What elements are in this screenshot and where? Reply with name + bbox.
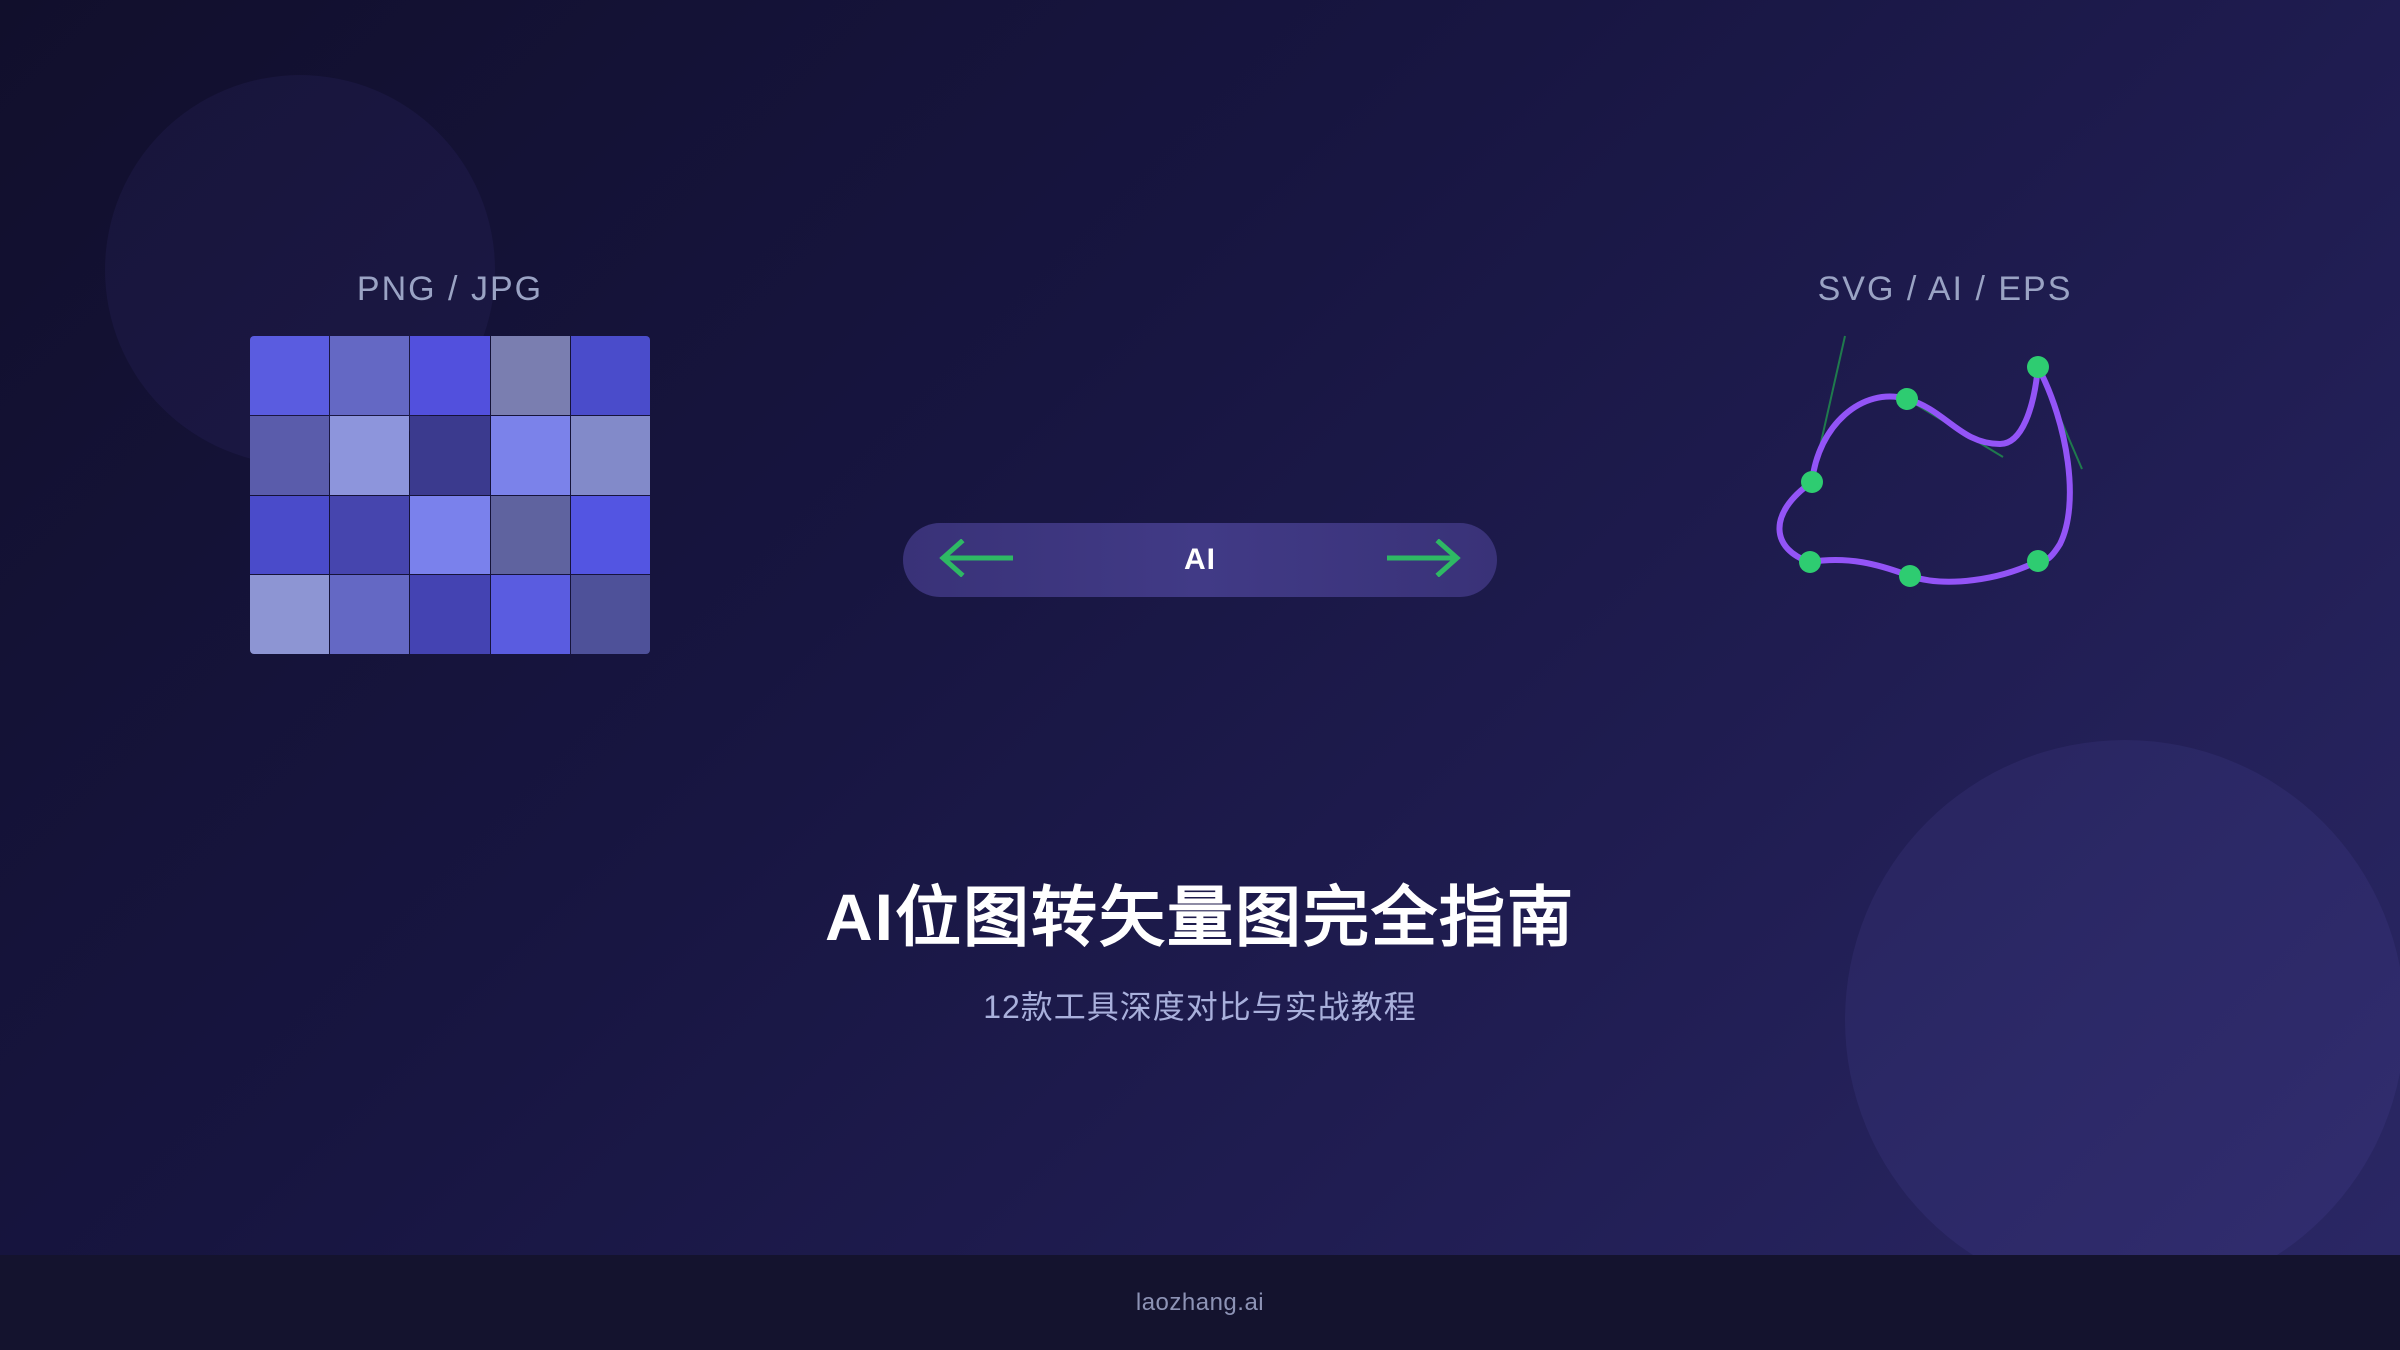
vector-format-label: SVG / AI / EPS (1750, 270, 2140, 309)
raster-format-panel: PNG / JPG (250, 270, 650, 654)
anchor-bottom-mid[interactable] (1899, 565, 1921, 587)
pixel-cell (410, 575, 489, 654)
pixel-cell (410, 416, 489, 495)
pixel-cell (571, 575, 650, 654)
vector-outline-path (1779, 367, 2069, 582)
pixel-cell (410, 336, 489, 415)
pixel-cell (491, 496, 570, 575)
pixel-cell (330, 575, 409, 654)
footer-brand: laozhang.ai (1136, 1289, 1264, 1317)
pixel-cell (250, 416, 329, 495)
anchor-points (1799, 356, 2049, 587)
pixel-cell (491, 336, 570, 415)
anchor-left[interactable] (1801, 471, 1823, 493)
anchor-top-mid[interactable] (1896, 388, 1918, 410)
pixel-cell (491, 575, 570, 654)
pixel-cell (410, 496, 489, 575)
pixel-cell (250, 336, 329, 415)
pixel-cell (250, 496, 329, 575)
pixel-cell (571, 416, 650, 495)
arrow-right-icon (1387, 539, 1463, 582)
poster-canvas: PNG / JPG AI SVG / AI / EPS (0, 0, 2400, 1350)
vector-format-panel: SVG / AI / EPS (1750, 270, 2140, 649)
footer-bar: laozhang.ai (0, 1255, 2400, 1350)
pixel-cell (571, 496, 650, 575)
anchor-bottom-right[interactable] (2027, 550, 2049, 572)
pixel-cell (330, 496, 409, 575)
anchor-top-right[interactable] (2027, 356, 2049, 378)
vector-path-illustration (1750, 319, 2140, 649)
pixel-cell (330, 416, 409, 495)
title-block: AI位图转矢量图完全指南 12款工具深度对比与实战教程 (0, 880, 2400, 1028)
page-subtitle: 12款工具深度对比与实战教程 (0, 982, 2400, 1028)
page-title: AI位图转矢量图完全指南 (0, 880, 2400, 956)
pixel-cell (571, 336, 650, 415)
arrow-left-icon (937, 539, 1013, 582)
ai-conversion-pill[interactable]: AI (903, 523, 1497, 597)
raster-format-label: PNG / JPG (250, 270, 650, 309)
pixel-cell (250, 575, 329, 654)
anchor-bottom-left[interactable] (1799, 551, 1821, 573)
pixel-cell (491, 416, 570, 495)
pixel-grid-illustration (250, 336, 650, 654)
pixel-cell (330, 336, 409, 415)
